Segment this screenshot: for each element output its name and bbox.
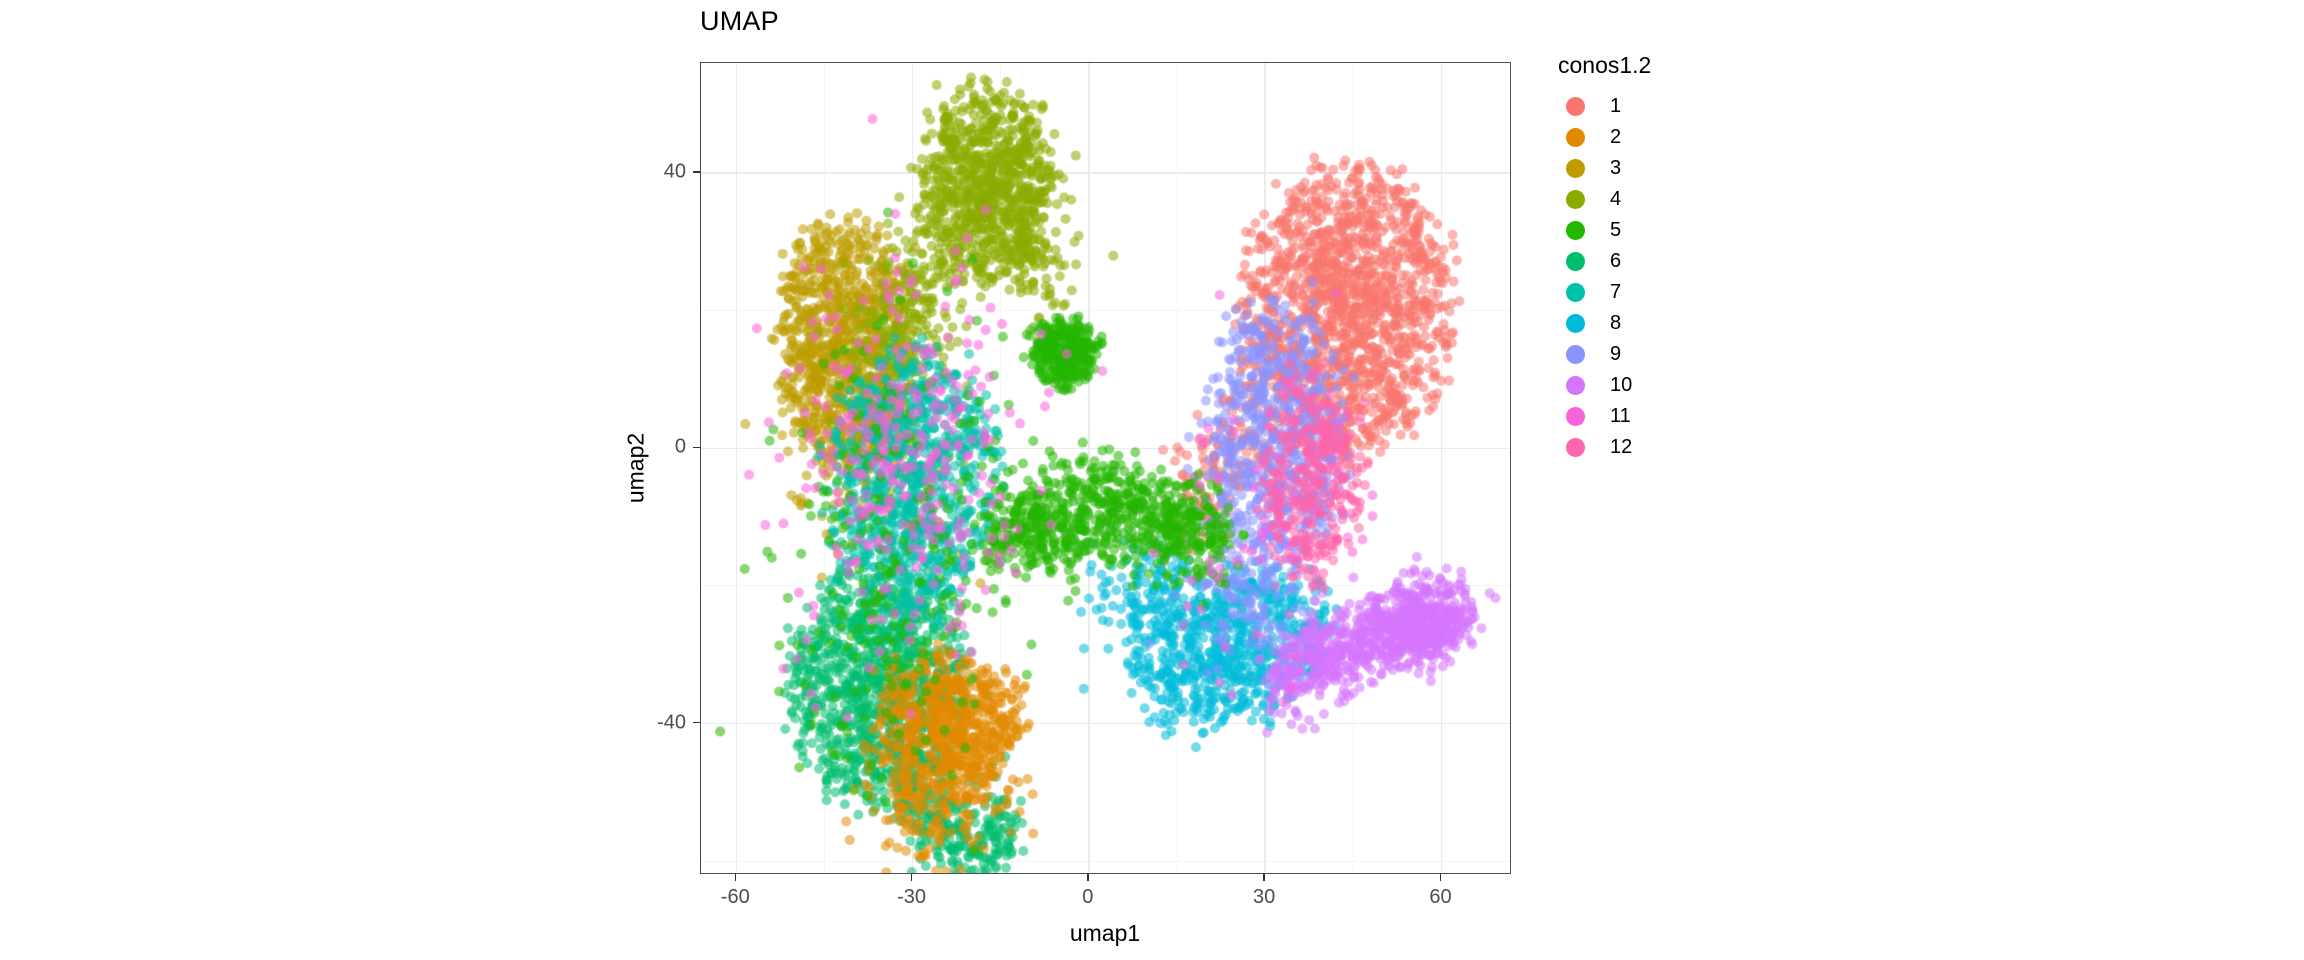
legend-color-dot-icon xyxy=(1566,128,1585,147)
legend-item-3[interactable]: 3 xyxy=(1558,153,1758,184)
legend-item-label: 6 xyxy=(1610,250,1621,273)
legend-item-label: 4 xyxy=(1610,188,1621,211)
legend-key xyxy=(1558,277,1592,308)
legend-item-label: 2 xyxy=(1610,126,1621,149)
scatter-points-canvas xyxy=(701,63,1510,873)
legend-color-dot-icon xyxy=(1566,438,1585,457)
y-tick-label: -40 xyxy=(657,711,686,734)
x-axis-title: umap1 xyxy=(1070,920,1140,947)
legend-item-label: 9 xyxy=(1610,343,1621,366)
legend-color-dot-icon xyxy=(1566,407,1585,426)
legend-color-dot-icon xyxy=(1566,221,1585,240)
legend-item-7[interactable]: 7 xyxy=(1558,277,1758,308)
legend-color-dot-icon xyxy=(1566,252,1585,271)
page-title: UMAP xyxy=(700,6,779,37)
x-tick-label: -30 xyxy=(897,886,926,909)
legend-color-dot-icon xyxy=(1566,97,1585,116)
legend-item-1[interactable]: 1 xyxy=(1558,91,1758,122)
y-tick-mark xyxy=(693,447,700,449)
legend-key xyxy=(1558,215,1592,246)
plot-panel xyxy=(700,62,1511,874)
legend-key xyxy=(1558,432,1592,463)
legend-key xyxy=(1558,91,1592,122)
legend-item-label: 12 xyxy=(1610,436,1632,459)
legend-color-dot-icon xyxy=(1566,314,1585,333)
umap-plot-root: UMAP -60-3003060400-40 umap1 umap2 conos… xyxy=(0,0,2304,960)
legend: conos1.2 123456789101112 xyxy=(1558,52,1758,463)
x-tick-label: -60 xyxy=(721,886,750,909)
legend-color-dot-icon xyxy=(1566,345,1585,364)
legend-item-10[interactable]: 10 xyxy=(1558,370,1758,401)
legend-key xyxy=(1558,370,1592,401)
legend-item-9[interactable]: 9 xyxy=(1558,339,1758,370)
legend-title: conos1.2 xyxy=(1558,52,1758,79)
x-tick-mark xyxy=(735,874,737,881)
legend-key xyxy=(1558,122,1592,153)
legend-key xyxy=(1558,308,1592,339)
legend-item-4[interactable]: 4 xyxy=(1558,184,1758,215)
legend-key xyxy=(1558,339,1592,370)
legend-item-5[interactable]: 5 xyxy=(1558,215,1758,246)
legend-key xyxy=(1558,153,1592,184)
legend-item-label: 8 xyxy=(1610,312,1621,335)
y-tick-label: 40 xyxy=(664,161,686,184)
x-tick-label: 60 xyxy=(1429,886,1451,909)
legend-item-11[interactable]: 11 xyxy=(1558,401,1758,432)
legend-item-2[interactable]: 2 xyxy=(1558,122,1758,153)
legend-item-12[interactable]: 12 xyxy=(1558,432,1758,463)
legend-color-dot-icon xyxy=(1566,376,1585,395)
legend-color-dot-icon xyxy=(1566,283,1585,302)
x-tick-mark xyxy=(1440,874,1442,881)
x-tick-label: 0 xyxy=(1082,886,1093,909)
legend-item-label: 5 xyxy=(1610,219,1621,242)
x-tick-label: 30 xyxy=(1253,886,1275,909)
legend-item-label: 1 xyxy=(1610,95,1621,118)
x-tick-mark xyxy=(1087,874,1089,881)
x-tick-mark xyxy=(911,874,913,881)
legend-color-dot-icon xyxy=(1566,159,1585,178)
legend-item-8[interactable]: 8 xyxy=(1558,308,1758,339)
y-tick-mark xyxy=(693,722,700,724)
legend-item-label: 11 xyxy=(1610,405,1631,428)
legend-key xyxy=(1558,246,1592,277)
legend-color-dot-icon xyxy=(1566,190,1585,209)
legend-item-label: 7 xyxy=(1610,281,1621,304)
plot-panel-inner xyxy=(701,63,1510,873)
legend-key xyxy=(1558,401,1592,432)
legend-key xyxy=(1558,184,1592,215)
legend-item-6[interactable]: 6 xyxy=(1558,246,1758,277)
y-tick-mark xyxy=(693,171,700,173)
y-axis-title: umap2 xyxy=(623,433,650,503)
legend-item-label: 3 xyxy=(1610,157,1621,180)
legend-item-label: 10 xyxy=(1610,374,1632,397)
x-tick-mark xyxy=(1263,874,1265,881)
legend-items: 123456789101112 xyxy=(1558,91,1758,463)
y-tick-label: 0 xyxy=(675,436,686,459)
